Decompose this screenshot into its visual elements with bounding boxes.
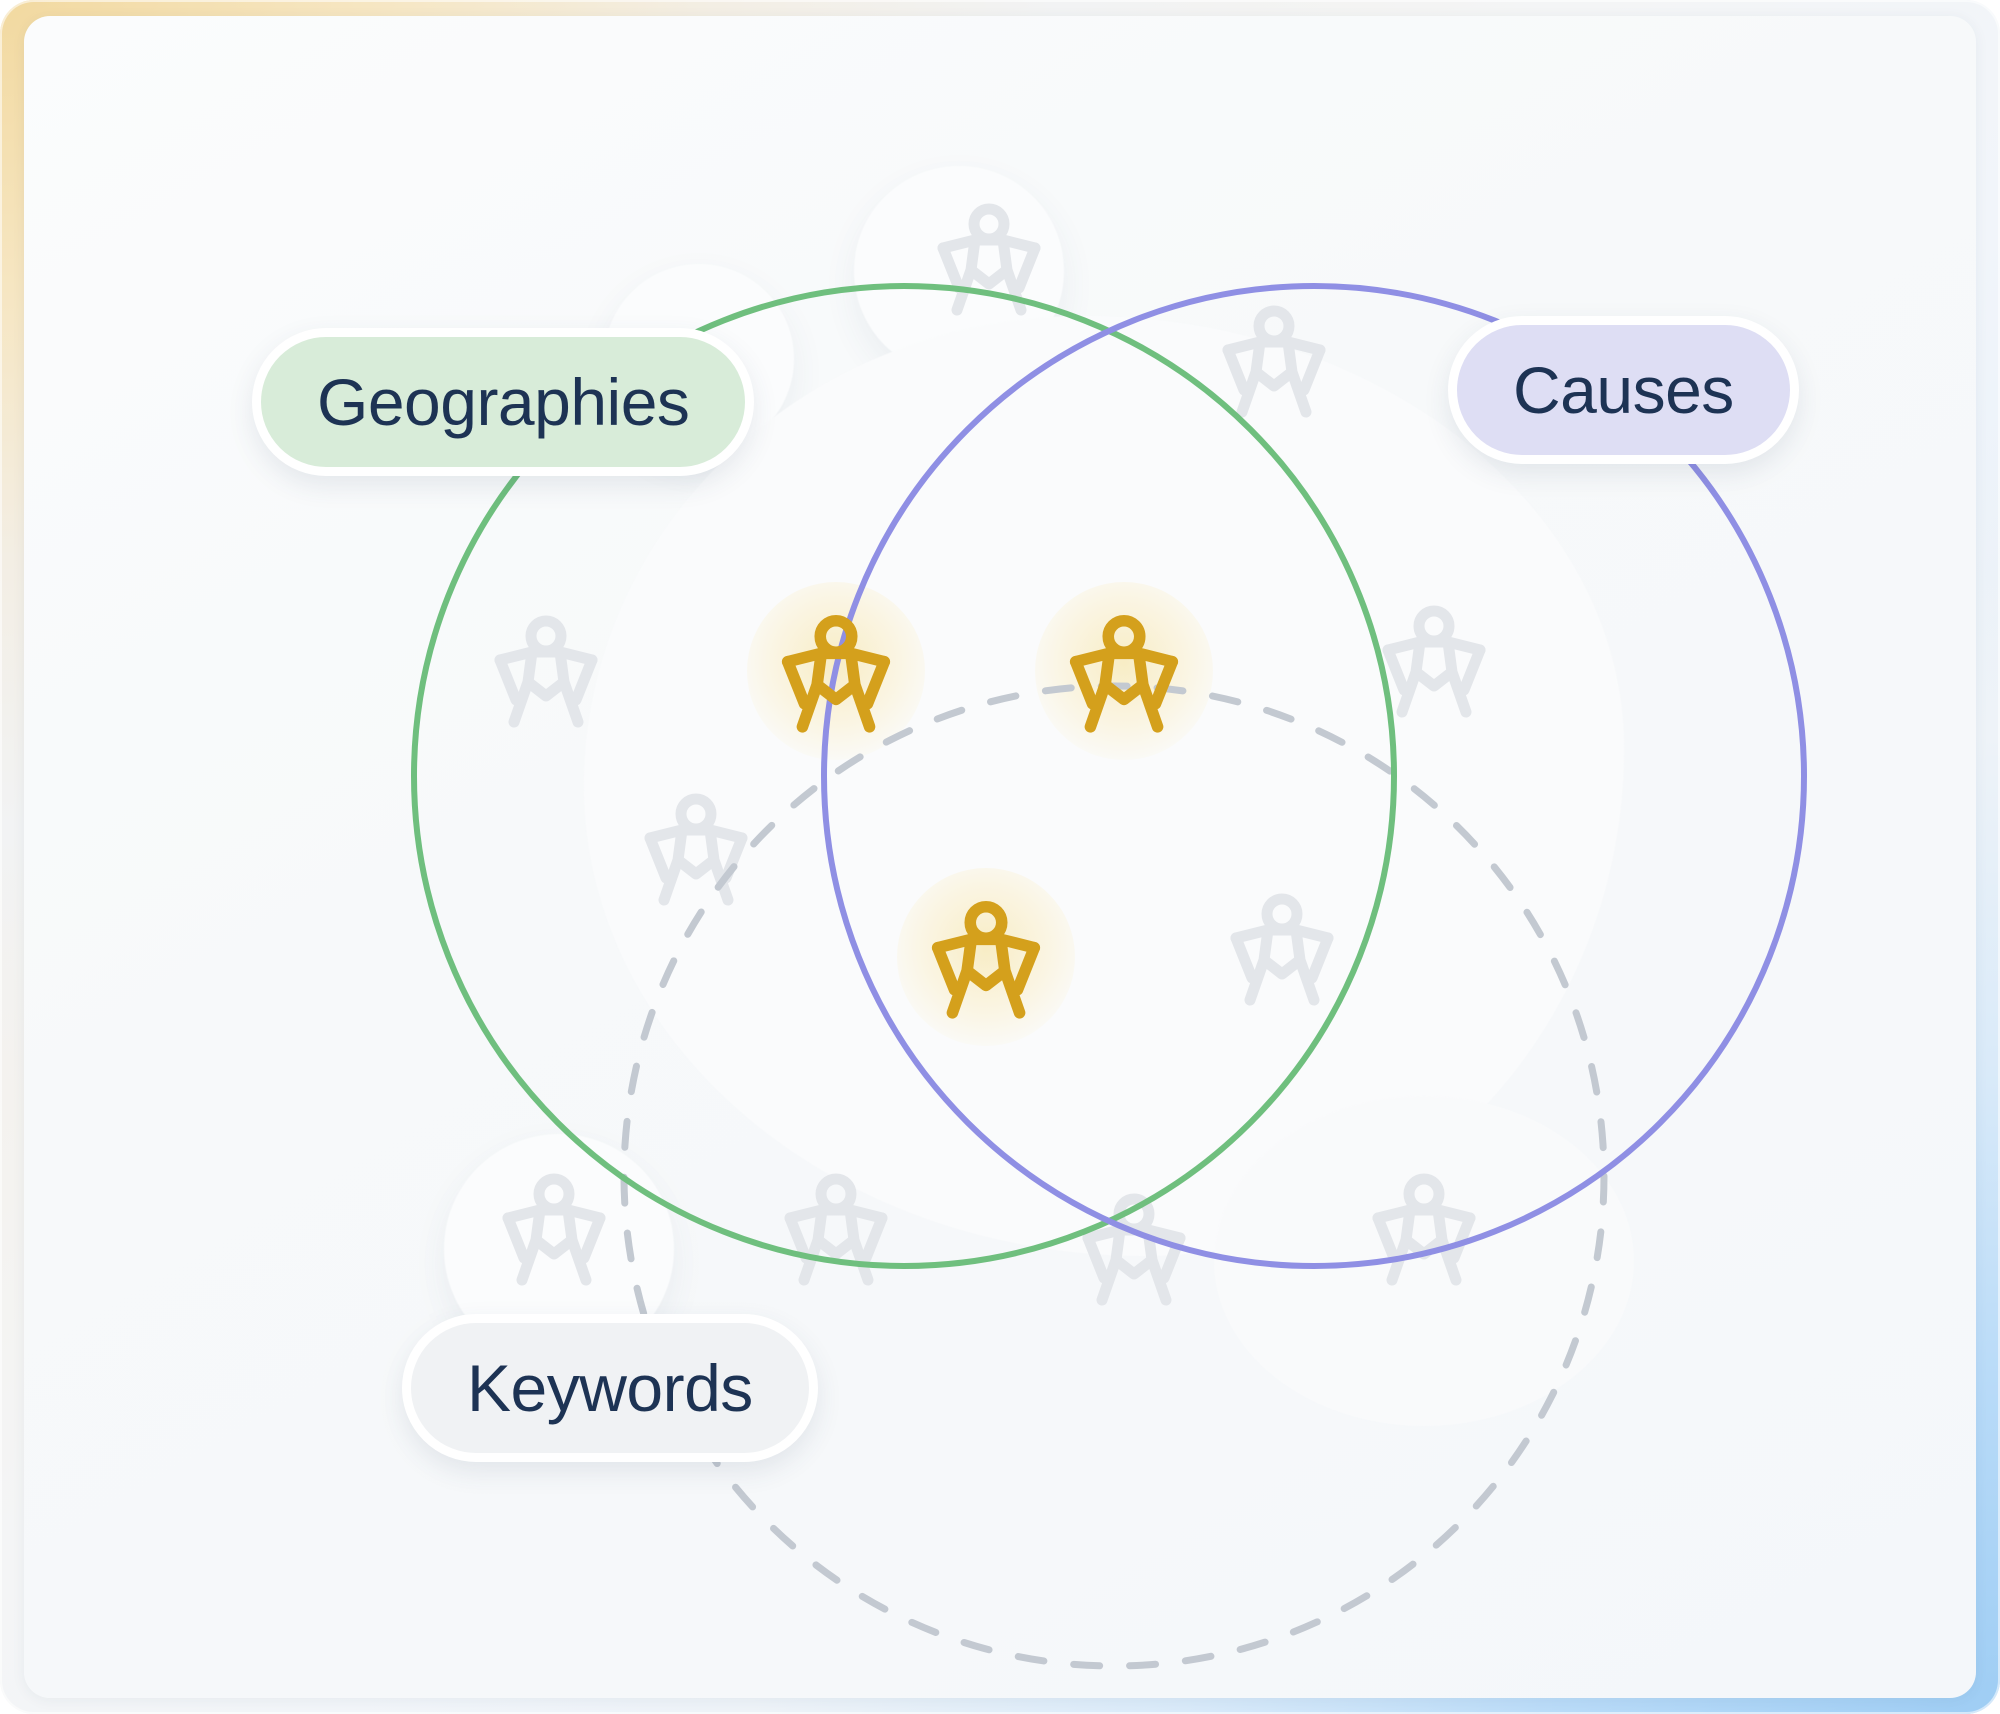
venn-label-causes[interactable]: Causes: [1448, 316, 1799, 464]
accessibility-person-icon-highlighted: [938, 907, 1035, 1013]
accessibility-person-icon-highlighted: [1076, 621, 1173, 727]
venn-label-geographies-text: Geographies: [317, 369, 689, 435]
accessibility-person-icon-highlighted: [788, 621, 885, 727]
venn-label-geographies[interactable]: Geographies: [252, 328, 754, 476]
venn-label-causes-text: Causes: [1513, 357, 1734, 423]
screenshot-root: Geographies Causes Keywords: [0, 0, 2000, 1714]
venn-label-keywords-text: Keywords: [467, 1355, 753, 1421]
diagram-card: Geographies Causes Keywords: [24, 16, 1976, 1698]
venn-label-keywords[interactable]: Keywords: [402, 1314, 818, 1462]
gradient-background: Geographies Causes Keywords: [0, 0, 2000, 1714]
highlighted-marker-layer: [24, 16, 1976, 1698]
